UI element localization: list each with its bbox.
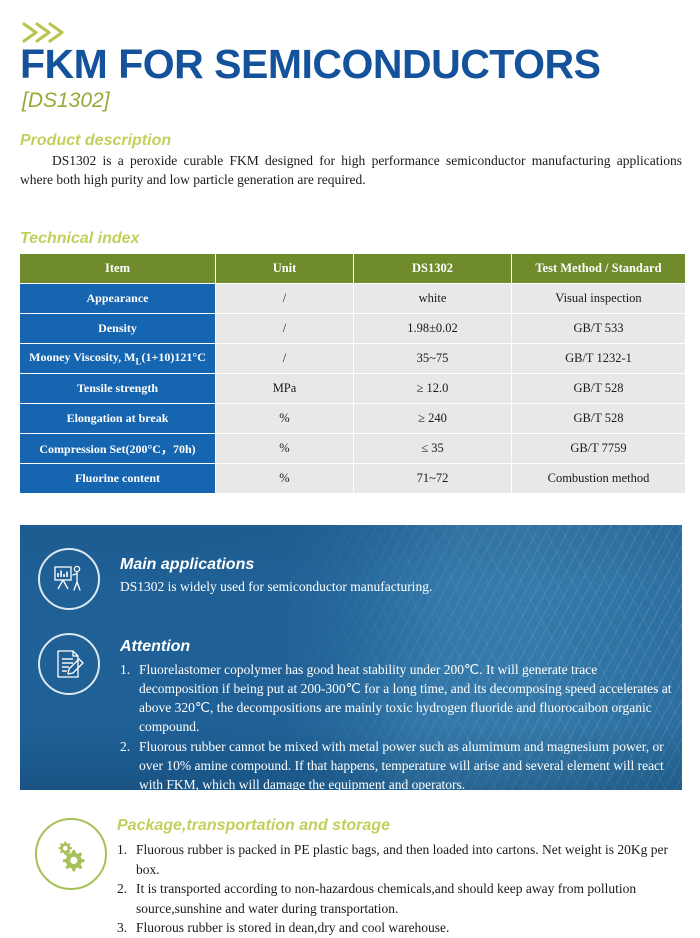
package-transportation-storage-heading: Package,transportation and storage xyxy=(117,818,390,834)
cell-spec: 35~75 xyxy=(354,344,511,373)
list-item-text: Fluorelastomer copolymer has good heat s… xyxy=(139,662,672,734)
table-row: Mooney Viscosity, ML(1+10)121°C / 35~75 … xyxy=(20,344,685,373)
attention-list: 1. Fluorelastomer copolymer has good hea… xyxy=(120,660,680,790)
cell-unit: % xyxy=(216,404,353,433)
cell-item: Elongation at break xyxy=(20,404,215,433)
list-item-number: 2. xyxy=(117,879,127,899)
document-pencil-icon xyxy=(38,633,100,695)
cell-method: GB/T 1232-1 xyxy=(512,344,685,373)
cell-item-text: Mooney Viscosity, M xyxy=(29,350,135,364)
cell-method: GB/T 7759 xyxy=(512,434,685,463)
page-title: FKM FOR SEMICONDUCTORS xyxy=(20,44,600,85)
product-description-heading: Product description xyxy=(20,133,171,149)
cell-item: Compression Set(200°C，70h) xyxy=(20,434,215,463)
cell-unit: % xyxy=(216,464,353,493)
package-list: 1. Fluorous rubber is packed in PE plast… xyxy=(117,840,687,938)
list-item-text: Fluorous rubber is stored in dean,dry an… xyxy=(136,920,449,935)
technical-index-heading: Technical index xyxy=(20,231,139,247)
main-applications-body: DS1302 is widely used for semiconductor … xyxy=(120,577,650,596)
table-row: Tensile strength MPa ≥ 12.0 GB/T 528 xyxy=(20,374,685,403)
presentation-board-person-icon xyxy=(38,548,100,610)
list-item-text: Fluorous rubber cannot be mixed with met… xyxy=(139,739,664,790)
product-code-subtitle: [DS1302] xyxy=(22,90,110,111)
column-header-item: Item xyxy=(20,254,215,283)
gears-icon xyxy=(35,818,107,890)
cell-item: Fluorine content xyxy=(20,464,215,493)
column-header-unit: Unit xyxy=(216,254,353,283)
table-row: Elongation at break % ≥ 240 GB/T 528 xyxy=(20,404,685,433)
cell-item: Appearance xyxy=(20,284,215,313)
column-header-spec: DS1302 xyxy=(354,254,511,283)
list-item-number: 2. xyxy=(120,737,130,756)
cell-spec: ≥ 12.0 xyxy=(354,374,511,403)
cell-method: GB/T 533 xyxy=(512,314,685,343)
list-item-number: 1. xyxy=(117,840,127,860)
cell-unit: / xyxy=(216,284,353,313)
product-description-body: DS1302 is a peroxide curable FKM designe… xyxy=(20,152,682,189)
list-item: 1. Fluorelastomer copolymer has good hea… xyxy=(120,660,680,737)
table-row: Compression Set(200°C，70h) % ≤ 35 GB/T 7… xyxy=(20,434,685,463)
cell-unit: / xyxy=(216,344,353,373)
cell-spec: 1.98±0.02 xyxy=(354,314,511,343)
cell-spec: ≥ 240 xyxy=(354,404,511,433)
column-header-method: Test Method / Standard xyxy=(512,254,685,283)
cell-unit: % xyxy=(216,434,353,463)
table-row: Density / 1.98±0.02 GB/T 533 xyxy=(20,314,685,343)
technical-index-table: Item Unit DS1302 Test Method / Standard … xyxy=(19,253,686,494)
attention-heading: Attention xyxy=(120,639,190,655)
cell-item: Density xyxy=(20,314,215,343)
cell-spec: white xyxy=(354,284,511,313)
cell-spec: ≤ 35 xyxy=(354,434,511,463)
cell-unit: / xyxy=(216,314,353,343)
table-row: Appearance / white Visual inspection xyxy=(20,284,685,313)
list-item-number: 1. xyxy=(120,660,130,679)
cell-method: Combustion method xyxy=(512,464,685,493)
list-item-text: Fluorous rubber is packed in PE plastic … xyxy=(136,842,668,877)
list-item-text: It is transported according to non-hazar… xyxy=(136,881,636,916)
cell-method: GB/T 528 xyxy=(512,374,685,403)
applications-attention-panel: Main applications DS1302 is widely used … xyxy=(20,525,682,790)
cell-method: GB/T 528 xyxy=(512,404,685,433)
cell-item-tail: (1+10)121°C xyxy=(142,350,206,364)
cell-unit: MPa xyxy=(216,374,353,403)
cell-method: Visual inspection xyxy=(512,284,685,313)
technical-index-table-wrapper: Item Unit DS1302 Test Method / Standard … xyxy=(19,253,681,494)
cell-spec: 71~72 xyxy=(354,464,511,493)
list-item: 2. It is transported according to non-ha… xyxy=(117,879,687,918)
main-applications-heading: Main applications xyxy=(120,557,254,573)
cell-item: Tensile strength xyxy=(20,374,215,403)
list-item: 1. Fluorous rubber is packed in PE plast… xyxy=(117,840,687,879)
table-header-row: Item Unit DS1302 Test Method / Standard xyxy=(20,254,685,283)
list-item: 2. Fluorous rubber cannot be mixed with … xyxy=(120,737,680,790)
table-row: Fluorine content % 71~72 Combustion meth… xyxy=(20,464,685,493)
cell-item: Mooney Viscosity, ML(1+10)121°C xyxy=(20,344,215,373)
